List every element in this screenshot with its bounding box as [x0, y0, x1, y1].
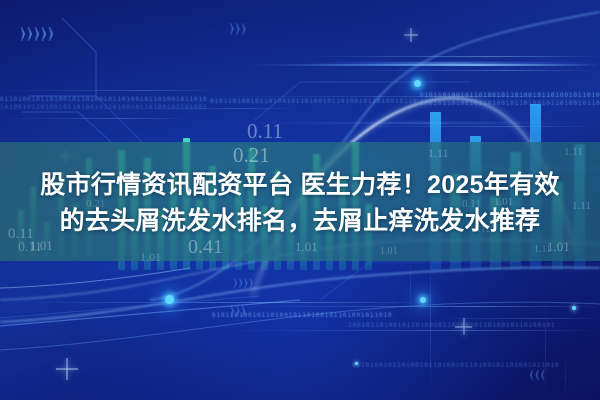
overlay-number: 0.41	[188, 236, 223, 259]
overlay-number: 1.01	[140, 250, 161, 265]
headline-line-2: 的去头屑洗发水排名，去屑止痒洗发水推荐	[0, 203, 600, 239]
headline-line-1: 股市行情资讯配资平台 医生力荐！2025年有效	[0, 167, 600, 203]
overlay-number: 1.11	[534, 244, 551, 255]
overlay-number: 1.11	[428, 146, 449, 161]
overlay-number: 0.21	[233, 143, 270, 168]
overlay-number: 0.11	[247, 119, 283, 144]
overlay-number: 1.01	[295, 239, 318, 255]
banner-canvas: 0101101001011010010110100101101001011010…	[0, 0, 600, 400]
overlay-number: 0.11	[18, 240, 42, 256]
overlay-number: 1.01	[380, 246, 398, 257]
overlay-number: 1.11	[564, 146, 583, 158]
page-title: 股市行情资讯配资平台 医生力荐！2025年有效 的去头屑洗发水排名，去屑止痒洗发…	[0, 167, 600, 239]
